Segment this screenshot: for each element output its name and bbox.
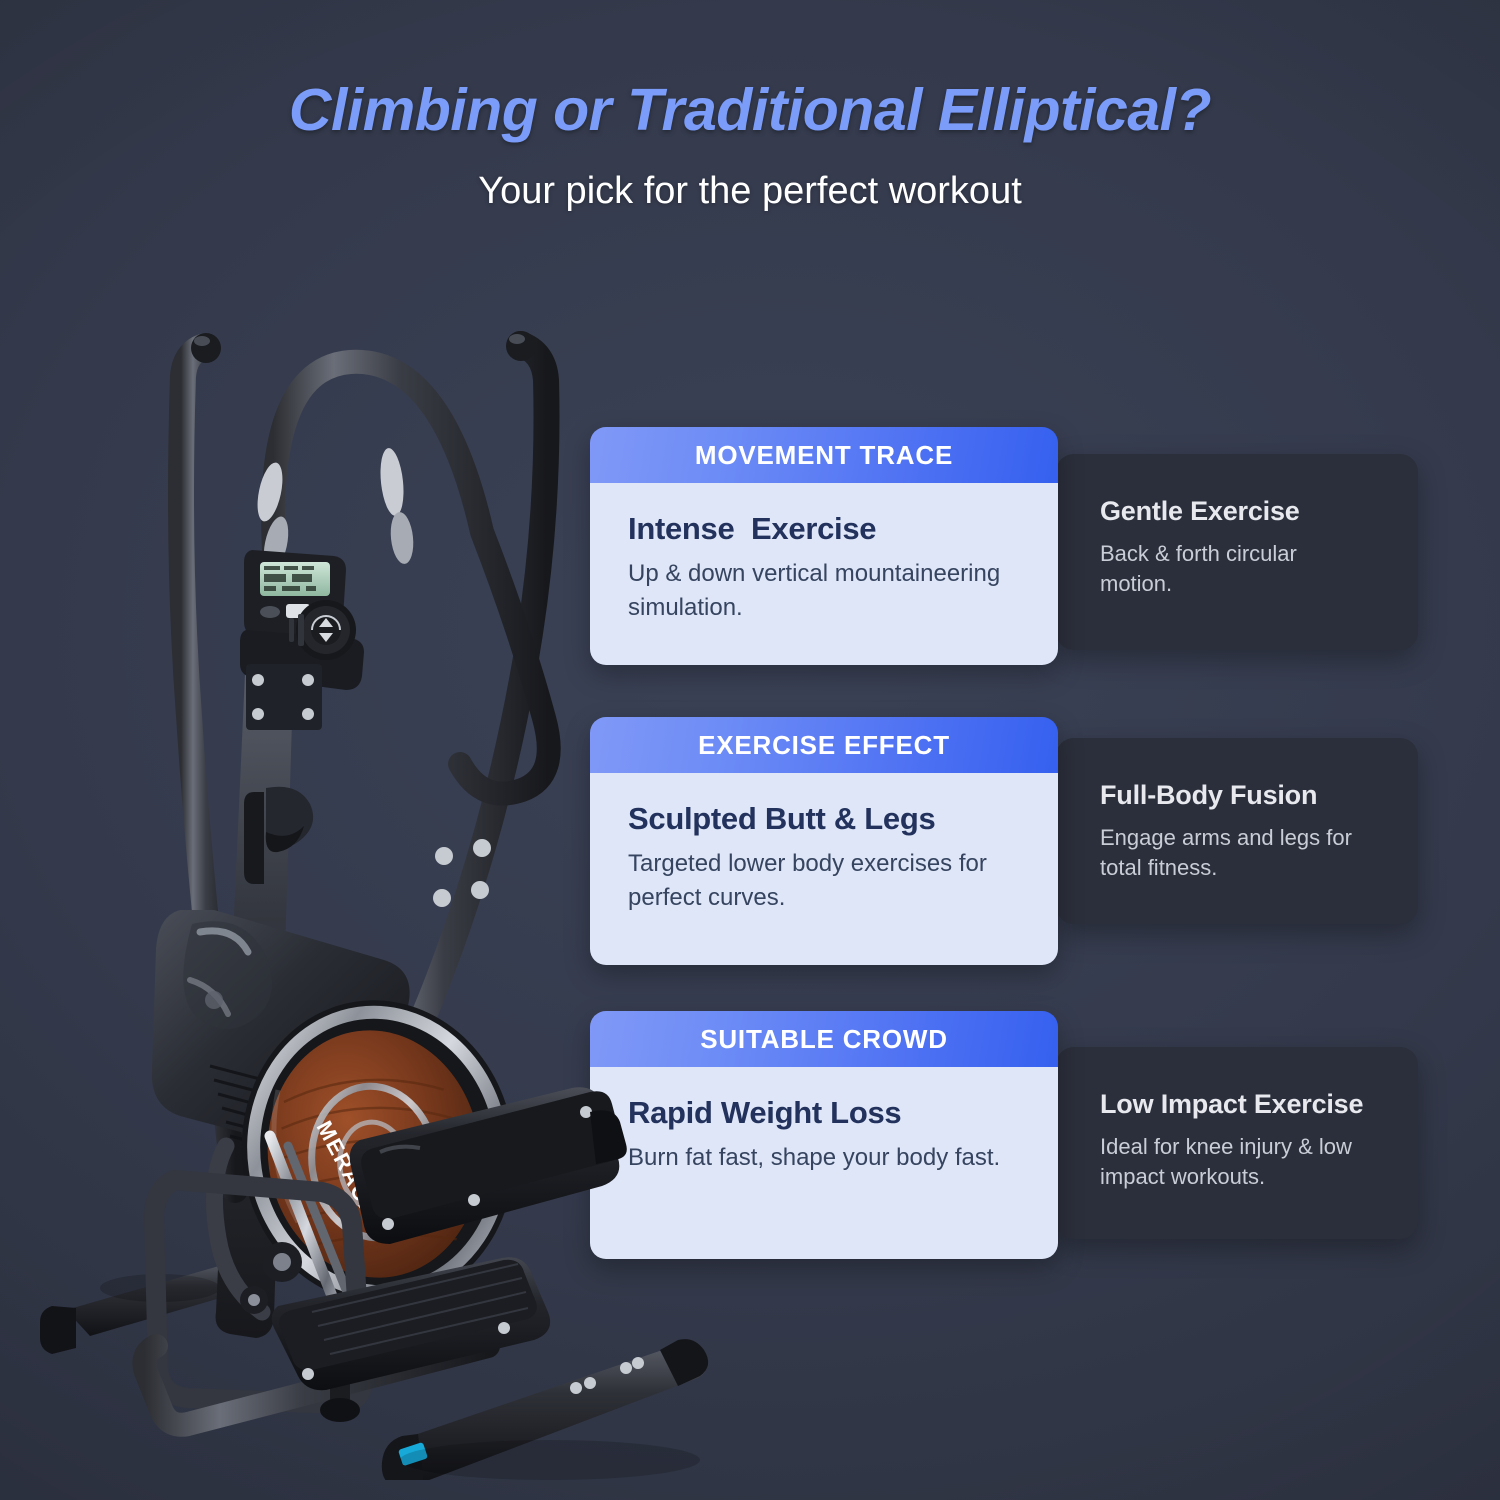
climbing-card-2: EXERCISE EFFECT Sculpted Butt & Legs Tar… <box>590 717 1058 965</box>
climbing-card-3: SUITABLE CROWD Rapid Weight Loss Burn fa… <box>590 1011 1058 1259</box>
climbing-card-1: MOVEMENT TRACE Intense Exercise Up & dow… <box>590 427 1058 665</box>
category-label-3: SUITABLE CROWD <box>700 1024 948 1055</box>
climbing-text-3: Burn fat fast, shape your body fast. <box>628 1141 1022 1175</box>
traditional-title-2: Full-Body Fusion <box>1100 780 1374 811</box>
category-label-2: EXERCISE EFFECT <box>698 730 950 761</box>
traditional-title-1: Gentle Exercise <box>1100 496 1374 527</box>
traditional-card-2: Full-Body Fusion Engage arms and legs fo… <box>1056 738 1418 924</box>
traditional-card-1: Gentle Exercise Back & forth circular mo… <box>1056 454 1418 650</box>
traditional-text-2: Engage arms and legs for total fitness. <box>1100 823 1374 884</box>
traditional-text-3: Ideal for knee injury & low impact worko… <box>1100 1132 1374 1193</box>
climbing-text-2: Targeted lower body exercises for perfec… <box>628 847 1022 915</box>
page-title: Climbing or Traditional Elliptical? <box>0 76 1500 144</box>
page-subtitle: Your pick for the perfect workout <box>0 170 1500 213</box>
climbing-title-3: Rapid Weight Loss <box>628 1095 1022 1131</box>
category-header-3: SUITABLE CROWD <box>590 1011 1058 1067</box>
category-label-1: MOVEMENT TRACE <box>695 440 953 471</box>
traditional-card-3: Low Impact Exercise Ideal for knee injur… <box>1056 1047 1418 1239</box>
traditional-text-1: Back & forth circular motion. <box>1100 539 1374 600</box>
climbing-text-1: Up & down vertical mountaineering simula… <box>628 557 1022 625</box>
category-header-2: EXERCISE EFFECT <box>590 717 1058 773</box>
climbing-title-1: Intense Exercise <box>628 511 1022 547</box>
category-header-1: MOVEMENT TRACE <box>590 427 1058 483</box>
traditional-title-3: Low Impact Exercise <box>1100 1089 1374 1120</box>
header: Climbing or Traditional Elliptical? Your… <box>0 0 1500 213</box>
climbing-title-2: Sculpted Butt & Legs <box>628 801 1022 837</box>
